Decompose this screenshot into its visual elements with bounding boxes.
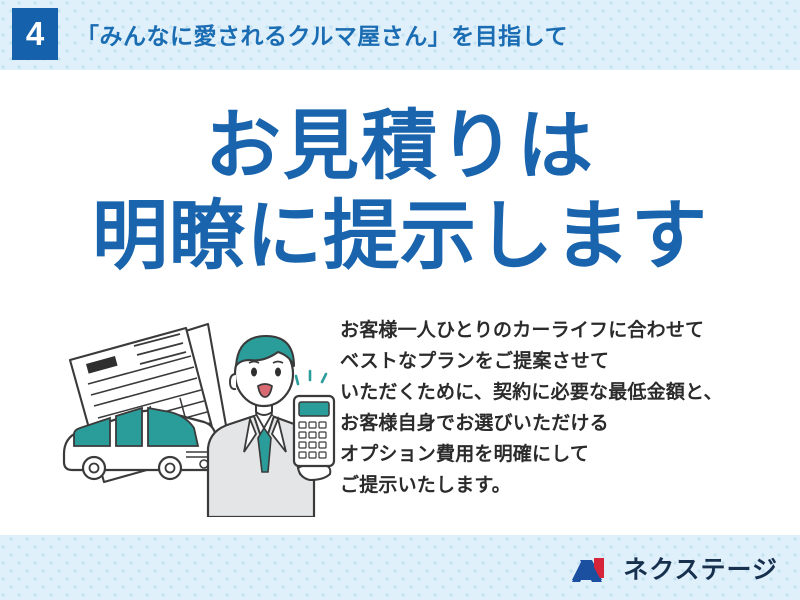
calculator-icon [294, 371, 334, 466]
page-title: お見積りは 明瞭に提示します [0, 102, 800, 281]
content-card: お見積りは 明瞭に提示します お客様一人ひとりのカーライフに合わせて ベストなプ… [0, 70, 800, 535]
headline-line-2: 明瞭に提示します [0, 192, 800, 282]
body-copy-line: ベストなプランをご提案させて [340, 346, 770, 377]
body-copy-line: お客様自身でお選びいただける [340, 408, 770, 439]
body-copy-line: オプション費用を明確にして [340, 439, 770, 470]
illustration-svg [58, 322, 336, 517]
brand-wordmark: ネクステージ [623, 558, 778, 583]
header-title: 「みんなに愛されるクルマ屋さん」を目指して [76, 17, 568, 51]
brand-logo: ネクステージ [570, 554, 778, 586]
headline-line-1: お見積りは [0, 102, 800, 192]
body-copy-line: いただくために、契約に必要な最低金額と、 [340, 377, 770, 408]
nextage-logo-mark-icon [570, 554, 614, 586]
body-copy-line: お客様一人ひとりのカーライフに合わせて [340, 315, 770, 346]
step-number-badge: 4 [12, 8, 58, 60]
sparkle-icon [296, 371, 326, 384]
body-copy: お客様一人ひとりのカーライフに合わせて ベストなプランをご提案させて いただくた… [340, 315, 770, 501]
body-copy-line: ご提示いたします。 [340, 470, 770, 501]
slide-header: 4 「みんなに愛されるクルマ屋さん」を目指して [0, 0, 800, 68]
slide-root: 4 「みんなに愛されるクルマ屋さん」を目指して お見積りは 明瞭に提示します お… [0, 0, 800, 600]
illustration-sales-staff [58, 322, 336, 517]
